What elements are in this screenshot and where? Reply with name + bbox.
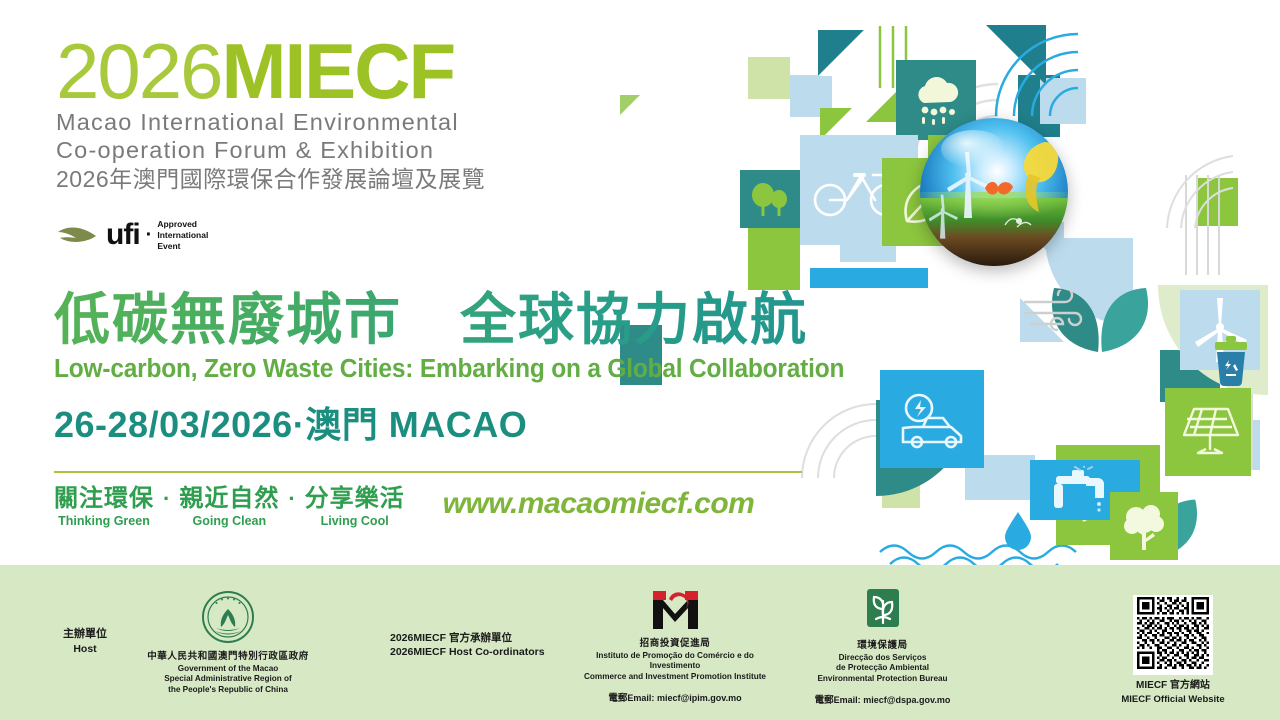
dspa-email-label-cn: 電郵 xyxy=(815,695,834,706)
tagline-en-2: Going Clean xyxy=(179,514,279,528)
ipim-logo xyxy=(647,589,703,631)
tagline-cn-3: 分享樂活 xyxy=(305,485,405,513)
dspa-email-address[interactable]: miecf@dspa.gov.mo xyxy=(863,695,950,705)
event-date-location: 26-28/03/2026·澳門 MACAO xyxy=(54,396,874,448)
host-organization: 中華人民共和國澳門特別行政區政府 Government of the Macao… xyxy=(128,591,328,696)
footer-bar: 主辦單位 Host 中華人民共和國澳門特別行政區政府 Government of… xyxy=(0,565,1280,720)
subtitle-en-line1: Macao International Environmental xyxy=(56,108,616,137)
slogan-chinese: 低碳無廢城市 全球協力啟航 xyxy=(54,290,874,349)
slogan-block: 低碳無廢城市 全球協力啟航 Low-carbon, Zero Waste Cit… xyxy=(54,290,874,448)
miecf-poster: 2026MIECF Macao International Environmen… xyxy=(0,0,1280,720)
dspa-org-pt-1: Direcção dos Serviços xyxy=(790,653,975,664)
brand-logo-block: 2026MIECF Macao International Environmen… xyxy=(56,36,616,193)
host-label: 主辦單位 Host xyxy=(40,627,130,656)
qr-block: MIECF 官方網站 MIECF Official Website xyxy=(1108,595,1238,706)
tree-icon xyxy=(1110,492,1178,560)
slogan-english: Low-carbon, Zero Waste Cities: Embarking… xyxy=(54,355,841,384)
host-org-en-2: Special Administrative Region of xyxy=(128,674,328,685)
ufi-line-international: International xyxy=(157,230,208,241)
subtitle-cn: 2026年澳門國際環保合作發展論壇及展覽 xyxy=(56,165,616,193)
event-city-cn: 澳門 xyxy=(305,404,378,445)
ufi-leaf-icon xyxy=(56,224,100,246)
tagline-thinking-green: 關注環保 Thinking Green xyxy=(54,485,154,528)
title-year: 2026 xyxy=(56,27,222,115)
host-org-en-3: the People's Republic of China xyxy=(128,685,328,696)
ipim-email-row: 電郵Email: miecf@ipim.gov.mo xyxy=(575,690,775,704)
ufi-approved-badge: ufi · Approved International Event xyxy=(56,219,208,252)
tagline-going-clean: 親近自然 Going Clean xyxy=(179,485,279,528)
dspa-org-en: Environmental Protection Bureau xyxy=(790,674,975,685)
ufi-wordmark: ufi xyxy=(106,220,140,250)
ufi-line-approved: Approved xyxy=(157,219,208,230)
page-title: 2026MIECF xyxy=(56,36,616,108)
dspa-org-pt-2: de Protecção Ambiental xyxy=(790,663,975,674)
tagline-cn-1: 關注環保 xyxy=(54,485,154,513)
tile-blue-strip xyxy=(810,268,928,288)
qr-caption-cn: MIECF 官方網站 xyxy=(1108,679,1238,693)
water-drop-icon xyxy=(998,506,1038,554)
qr-caption-en: MIECF Official Website xyxy=(1108,693,1238,706)
ufi-line-event: Event xyxy=(157,241,208,252)
triangle-white-1 xyxy=(818,30,864,76)
ufi-approved-text: Approved International Event xyxy=(157,219,208,252)
trees-icon xyxy=(740,170,800,228)
taglines-row: 關注環保 Thinking Green · 親近自然 Going Clean ·… xyxy=(54,485,754,528)
coordinators-label: 2026MIECF 官方承辦單位 2026MIECF Host Co-ordin… xyxy=(390,631,555,659)
wind-lines-icon xyxy=(1018,285,1094,341)
ipim-org-en: Commerce and Investment Promotion Instit… xyxy=(575,672,775,683)
recycle-bin-icon xyxy=(1198,325,1264,393)
dspa-email-label-en: Email: xyxy=(834,695,861,705)
ipim-org-cn: 招商投資促進局 xyxy=(575,638,775,651)
ipim-org-pt: Instituto de Promoção do Comércio e do I… xyxy=(575,651,775,673)
tagline-en-1: Thinking Green xyxy=(54,514,154,528)
qr-code[interactable] xyxy=(1133,595,1213,675)
tagline-cn-2: 親近自然 xyxy=(179,485,279,513)
signal-arcs-blue xyxy=(992,30,1082,120)
tagline-en-3: Living Cool xyxy=(305,514,405,528)
dspa-organization: 環境保護局 Direcção dos Serviços de Protecção… xyxy=(790,589,975,706)
triangle-green-1 xyxy=(620,95,640,135)
title-abbr: MIECF xyxy=(222,27,455,115)
subtitle-en-line2: Co-operation Forum & Exhibition xyxy=(56,136,616,165)
date-separator: · xyxy=(293,404,306,445)
ufi-dot: · xyxy=(146,225,152,245)
event-date: 26-28/03/2026 xyxy=(54,404,293,445)
dspa-org-cn: 環境保護局 xyxy=(790,640,975,653)
ipim-email-label-en: Email: xyxy=(627,693,654,703)
website-url[interactable]: www.macaomiecf.com xyxy=(443,485,755,523)
signal-arcs-gray-right xyxy=(1165,150,1235,230)
host-label-cn: 主辦單位 xyxy=(63,628,107,640)
event-city-en: MACAO xyxy=(389,404,527,445)
tagline-dot-1: · xyxy=(154,485,179,514)
solar-panel-icon xyxy=(1165,388,1251,476)
qr-caption: MIECF 官方網站 MIECF Official Website xyxy=(1108,679,1238,706)
dspa-email-row: 電郵Email: miecf@dspa.gov.mo xyxy=(790,692,975,706)
divider-rule xyxy=(54,471,802,473)
host-org-cn: 中華人民共和國澳門特別行政區政府 xyxy=(128,651,328,664)
tile-green-pale xyxy=(748,57,790,99)
coordinators-label-en: 2026MIECF Host Co-ordinators xyxy=(390,645,555,659)
tagline-dot-2: · xyxy=(279,485,304,514)
electric-car-icon xyxy=(880,370,984,468)
host-org-en-1: Government of the Macao xyxy=(128,664,328,675)
coordinators-label-cn: 2026MIECF 官方承辦單位 xyxy=(390,631,555,645)
dspa-logo xyxy=(863,589,903,633)
ipim-organization: 招商投資促進局 Instituto de Promoção do Comérci… xyxy=(575,589,775,704)
eco-globe-image xyxy=(920,118,1068,266)
ipim-email-label-cn: 電郵 xyxy=(608,693,627,704)
host-label-en: Host xyxy=(40,642,130,656)
tagline-living-cool: 分享樂活 Living Cool xyxy=(305,485,405,528)
macao-sar-emblem xyxy=(202,591,254,643)
ipim-email-address[interactable]: miecf@ipim.gov.mo xyxy=(657,693,742,703)
